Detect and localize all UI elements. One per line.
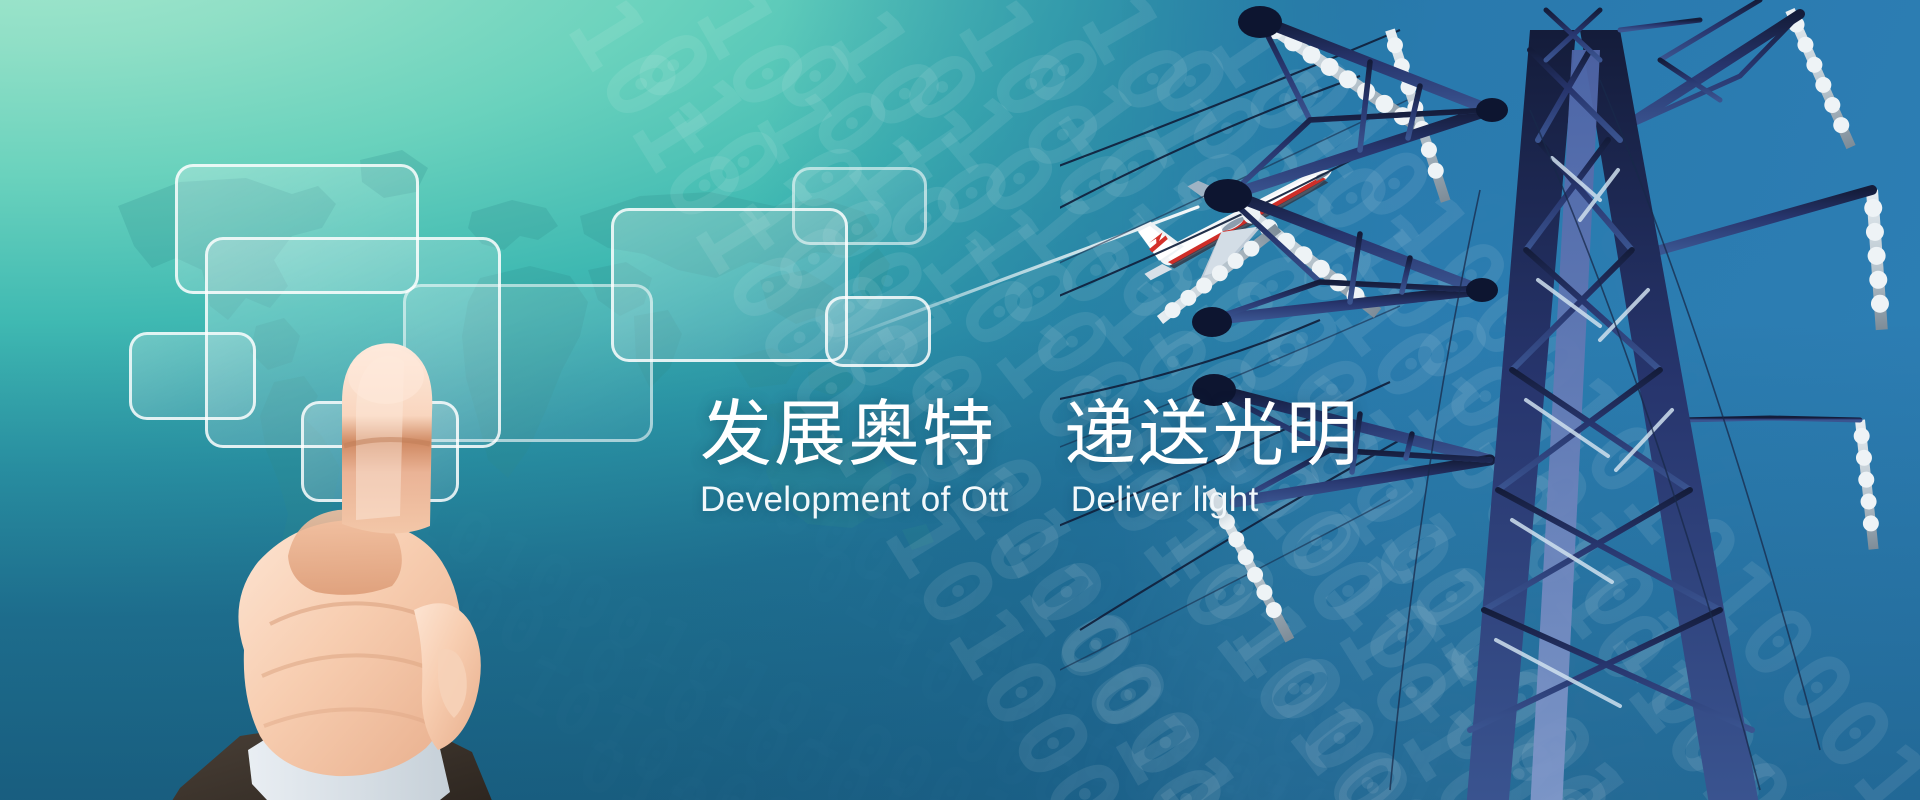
subtitle-phrase-1: Development of Ott xyxy=(700,482,1009,517)
subtitle-row: Development of Ott Deliver light xyxy=(700,482,1420,517)
headline-block: 发展奥特 递送光明 Development of Ott Deliver lig… xyxy=(700,398,1420,517)
panel-right-large xyxy=(611,208,848,361)
subtitle-phrase-2: Deliver light xyxy=(1071,482,1259,517)
headline-row: 发展奥特 递送光明 xyxy=(700,398,1420,470)
headline-phrase-1: 发展奥特 xyxy=(700,398,996,470)
pointing-hand-icon xyxy=(120,180,580,800)
hero-banner: 1010100010101000100101010001010100010100… xyxy=(0,0,1920,800)
headline-phrase-2: 递送光明 xyxy=(1064,398,1360,470)
